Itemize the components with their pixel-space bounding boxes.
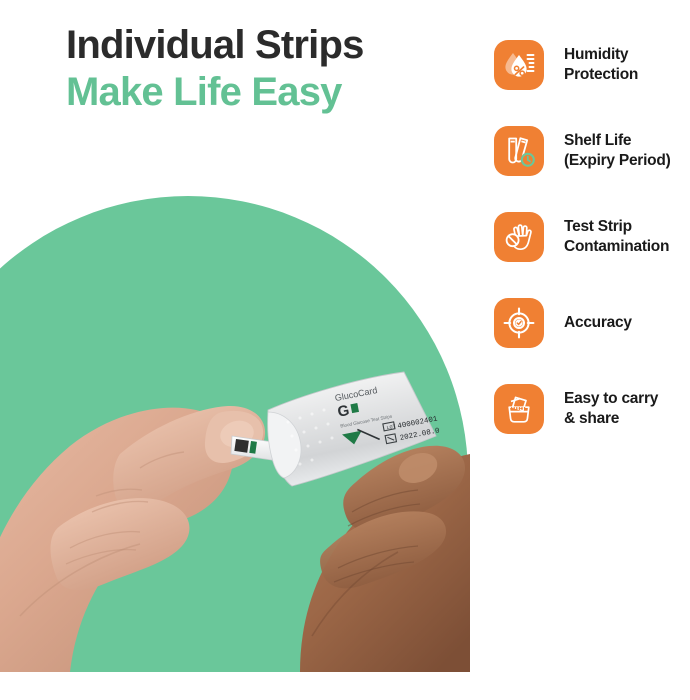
- accuracy-target-check-icon: [494, 298, 544, 348]
- feature-label-line-2: Contamination: [564, 238, 669, 255]
- feature-label-line-2: Protection: [564, 66, 638, 83]
- headline-line-2: Make Life Easy: [66, 69, 466, 116]
- feature-label-line-1: Shelf Life: [564, 132, 631, 149]
- left-hand: [0, 406, 265, 672]
- infographic-canvas: Individual Strips Make Life Easy: [0, 0, 690, 700]
- feature-item-contamination: Test Strip Contamination: [494, 212, 690, 298]
- feature-label-line-1: Easy to carry: [564, 390, 658, 407]
- feature-item-humidity-protection: Humidity Protection: [494, 40, 690, 126]
- feature-label-line-2: & share: [564, 410, 619, 427]
- product-photo: GlucoCard G Blood Glucose Test Strips LO…: [0, 196, 470, 700]
- feature-label-line-1: Humidity: [564, 46, 628, 63]
- feature-label-accuracy: Accuracy: [564, 313, 690, 333]
- pocket-strips-icon: [494, 384, 544, 434]
- feature-label-line-2: (Expiry Period): [564, 152, 671, 169]
- feature-item-easy-to-carry: Easy to carry & share: [494, 384, 690, 470]
- feature-item-accuracy: Accuracy: [494, 298, 690, 384]
- feature-label-easy-to-carry: Easy to carry & share: [564, 389, 690, 429]
- feature-item-shelf-life: Shelf Life (Expiry Period): [494, 126, 690, 212]
- headline-line-1: Individual Strips: [66, 22, 466, 69]
- page-title: Individual Strips Make Life Easy: [66, 22, 466, 116]
- feature-list: Humidity Protection: [494, 40, 690, 470]
- right-hand: [300, 446, 470, 672]
- feature-label-shelf-life: Shelf Life (Expiry Period): [564, 131, 690, 171]
- feature-label-contamination: Test Strip Contamination: [564, 217, 690, 257]
- shelf-life-vials-clock-icon: [494, 126, 544, 176]
- feature-label-humidity-protection: Humidity Protection: [564, 45, 690, 85]
- hand-contamination-icon: [494, 212, 544, 262]
- humidity-droplet-percent-icon: [494, 40, 544, 90]
- feature-label-line-1: Test Strip: [564, 218, 632, 235]
